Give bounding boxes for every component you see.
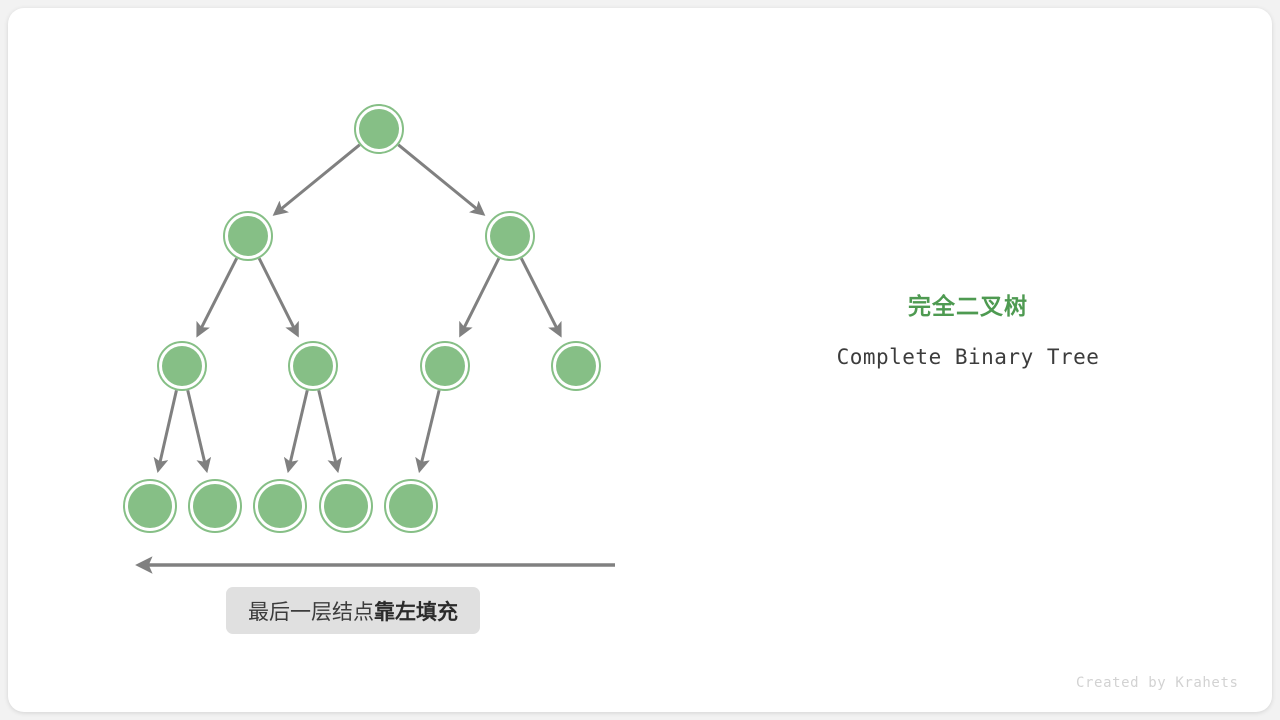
tree-node [486, 212, 534, 260]
tree-node-fill [258, 484, 302, 528]
tree-edge [420, 390, 439, 469]
tree-node-fill [162, 346, 202, 386]
tree-edge [289, 390, 308, 469]
last-level-note-chip: 最后一层结点靠左填充 [226, 587, 480, 634]
tree-node [254, 480, 306, 532]
tree-edge [158, 390, 176, 469]
tree-node-fill [389, 484, 433, 528]
tree-node-fill [228, 216, 268, 256]
tree-node [289, 342, 337, 390]
tree-node-group [124, 105, 600, 532]
tree-node [552, 342, 600, 390]
tree-node [124, 480, 176, 532]
tree-node [355, 105, 403, 153]
tree-edge [188, 390, 207, 469]
tree-node [224, 212, 272, 260]
tree-node-fill [425, 346, 465, 386]
tree-node-fill [324, 484, 368, 528]
diagram-title-en: Complete Binary Tree [728, 344, 1208, 370]
tree-edge [461, 258, 499, 333]
tree-node-fill [128, 484, 172, 528]
tree-node [385, 480, 437, 532]
tree-edge [319, 390, 338, 469]
chip-text-strong: 靠左填充 [374, 596, 458, 626]
tree-node-fill [293, 346, 333, 386]
watermark-credit: Created by Krahets [1076, 675, 1239, 691]
tree-node [421, 342, 469, 390]
tree-node-fill [359, 109, 399, 149]
caption-block: 完全二叉树 Complete Binary Tree [728, 292, 1208, 370]
tree-edge [398, 145, 482, 213]
tree-node [158, 342, 206, 390]
tree-node-fill [490, 216, 530, 256]
tree-edge [198, 258, 236, 334]
tree-node-fill [556, 346, 596, 386]
tree-edge [276, 145, 360, 213]
tree-edge [259, 258, 297, 333]
tree-edge-group [158, 145, 559, 469]
tree-node [320, 480, 372, 532]
screenshot-root: 完全二叉树 Complete Binary Tree 最后一层结点靠左填充 Cr… [0, 0, 1280, 720]
tree-node [189, 480, 241, 532]
chip-text-normal: 最后一层结点 [248, 596, 374, 626]
tree-node-fill [193, 484, 237, 528]
tree-edge [521, 258, 559, 334]
diagram-title-zh: 完全二叉树 [728, 292, 1208, 322]
